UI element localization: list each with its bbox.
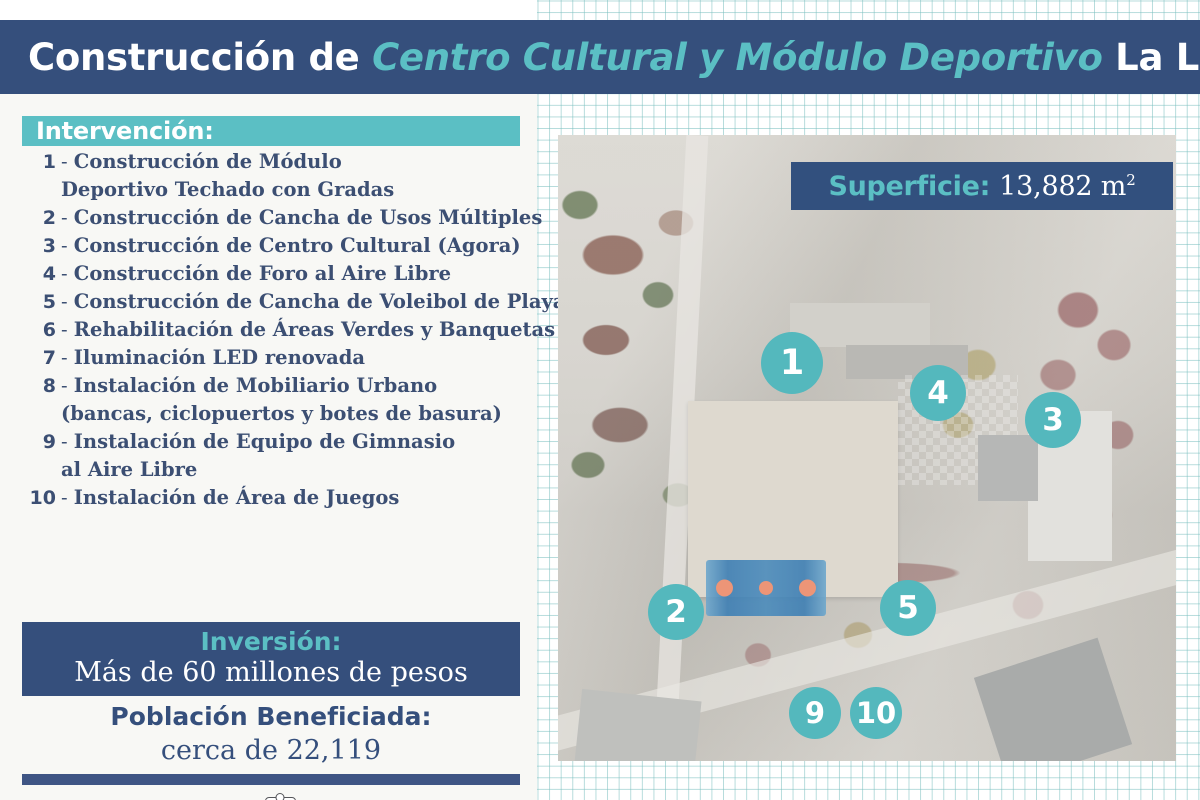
multipurpose-court [706, 560, 826, 616]
superficie-number: 13,882 m [999, 171, 1126, 202]
poblacion-block: Población Beneficiada: cerca de 22,119 [22, 700, 520, 767]
map-marker-label: 10 [856, 699, 896, 728]
list-item: 5 - Construcción de Cancha de Voleibol d… [22, 288, 532, 316]
list-item: 10 - Instalación de Área de Juegos [22, 484, 532, 512]
map-marker-2[interactable]: 2 [648, 584, 704, 640]
aerial-map[interactable]: Superficie: 13,882 m2 14325910 [558, 135, 1176, 761]
list-item-dash: - [61, 148, 74, 176]
list-item-dash: - [61, 288, 74, 316]
intervention-list: 1 - Construcción de Módulo Deportivo Tec… [22, 148, 532, 512]
superficie-label: Superficie: [828, 171, 990, 202]
superficie-value: 13,882 m2 [999, 171, 1135, 202]
list-item-label-2: Deportivo Techado con Gradas [61, 176, 394, 204]
map-marker-label: 2 [665, 597, 687, 628]
list-item-continuation: al Aire Libre [22, 456, 532, 484]
list-item-label-2: (bancas, ciclopuertos y botes de basura) [61, 400, 502, 428]
list-item-dash: - [61, 204, 74, 232]
list-item: 3 - Construcción de Centro Cultural (Ago… [22, 232, 532, 260]
building-east-2 [978, 435, 1038, 501]
list-item-label: Construcción de Cancha de Usos Múltiples [74, 204, 543, 232]
map-marker-1[interactable]: 1 [761, 332, 823, 394]
map-marker-label: 1 [780, 346, 804, 381]
list-item-dash: - [61, 372, 74, 400]
inversion-box: Inversión: Más de 60 millones de pesos [22, 622, 520, 696]
map-marker-label: 3 [1042, 405, 1064, 436]
list-item-label: Construcción de Foro al Aire Libre [74, 260, 451, 288]
list-item-number: 7 [22, 344, 61, 372]
map-marker-label: 9 [805, 699, 825, 728]
map-marker-10[interactable]: 10 [850, 687, 902, 739]
list-item: 9 - Instalación de Equipo de Gimnasio [22, 428, 532, 456]
list-item: 7 - Iluminación LED renovada [22, 344, 532, 372]
list-item-label: Rehabilitación de Áreas Verdes y Banquet… [74, 316, 555, 344]
footer-logos: SEDATU SECRETARÍA DE DESARROLLO AGRARIO,… [22, 794, 522, 800]
list-item: 1 - Construcción de Módulo [22, 148, 532, 176]
list-item-continuation: (bancas, ciclopuertos y botes de basura) [22, 400, 532, 428]
inversion-amount: Más de 60 millones de pesos [74, 656, 468, 690]
court-center-circle [759, 581, 773, 595]
list-item-label: Instalación de Área de Juegos [74, 484, 400, 512]
list-item-label: Iluminación LED renovada [74, 344, 365, 372]
poblacion-title: Población Beneficiada: [22, 700, 520, 734]
list-item-dash: - [61, 484, 74, 512]
title-prefix: Construcción de [28, 36, 372, 79]
list-item: 8 - Instalación de Mobiliario Urbano [22, 372, 532, 400]
intervention-heading-bar: Intervención: [22, 116, 520, 146]
list-item-label: Construcción de Centro Cultural (Agora) [74, 232, 521, 260]
list-item-dash: - [61, 260, 74, 288]
list-item: 2 - Construcción de Cancha de Usos Múlti… [22, 204, 532, 232]
poblacion-value: cerca de 22,119 [22, 734, 520, 767]
building-south-west [574, 689, 701, 761]
title-suffix: La Lija [1103, 36, 1200, 79]
list-item: 6 - Rehabilitación de Áreas Verdes y Ban… [22, 316, 532, 344]
divider-bar [22, 774, 520, 785]
map-marker-5[interactable]: 5 [880, 580, 936, 636]
list-item-number: 3 [22, 232, 61, 260]
intervention-heading-label: Intervención: [36, 117, 214, 145]
list-item-label: Instalación de Mobiliario Urbano [74, 372, 437, 400]
page-title: Construcción de Centro Cultural y Módulo… [28, 36, 1200, 79]
list-item-label-2: al Aire Libre [61, 456, 197, 484]
title-bar: Construcción de Centro Cultural y Módulo… [0, 20, 1200, 94]
left-info-panel: Intervención: 1 - Construcción de Módulo… [0, 94, 537, 800]
indent-spacer [22, 176, 61, 204]
map-marker-9[interactable]: 9 [789, 687, 841, 739]
inversion-title: Inversión: [200, 628, 341, 656]
list-item-number: 4 [22, 260, 61, 288]
map-marker-3[interactable]: 3 [1025, 392, 1081, 448]
list-item-number: 2 [22, 204, 61, 232]
list-item-continuation: Deportivo Techado con Gradas [22, 176, 532, 204]
map-marker-label: 5 [897, 593, 919, 624]
superficie-badge: Superficie: 13,882 m2 [791, 162, 1173, 210]
map-marker-label: 4 [927, 378, 949, 409]
list-item-label: Construcción de Módulo [74, 148, 342, 176]
indent-spacer [22, 400, 61, 428]
map-marker-4[interactable]: 4 [910, 365, 966, 421]
infographic-page: Construcción de Centro Cultural y Módulo… [0, 0, 1200, 800]
list-item-label: Construcción de Cancha de Voleibol de Pl… [74, 288, 566, 316]
indent-spacer [22, 456, 61, 484]
list-item-number: 1 [22, 148, 61, 176]
list-item-dash: - [61, 316, 74, 344]
list-item-dash: - [61, 428, 74, 456]
list-item-number: 6 [22, 316, 61, 344]
title-emphasis: Centro Cultural y Módulo Deportivo [372, 36, 1103, 79]
list-item-dash: - [61, 344, 74, 372]
list-item-dash: - [61, 232, 74, 260]
list-item-number: 8 [22, 372, 61, 400]
superficie-unit-exponent: 2 [1126, 171, 1135, 189]
list-item: 4 - Construcción de Foro al Aire Libre [22, 260, 532, 288]
list-item-label: Instalación de Equipo de Gimnasio [74, 428, 455, 456]
list-item-number: 5 [22, 288, 61, 316]
list-item-number: 9 [22, 428, 61, 456]
list-item-number: 10 [22, 484, 61, 512]
